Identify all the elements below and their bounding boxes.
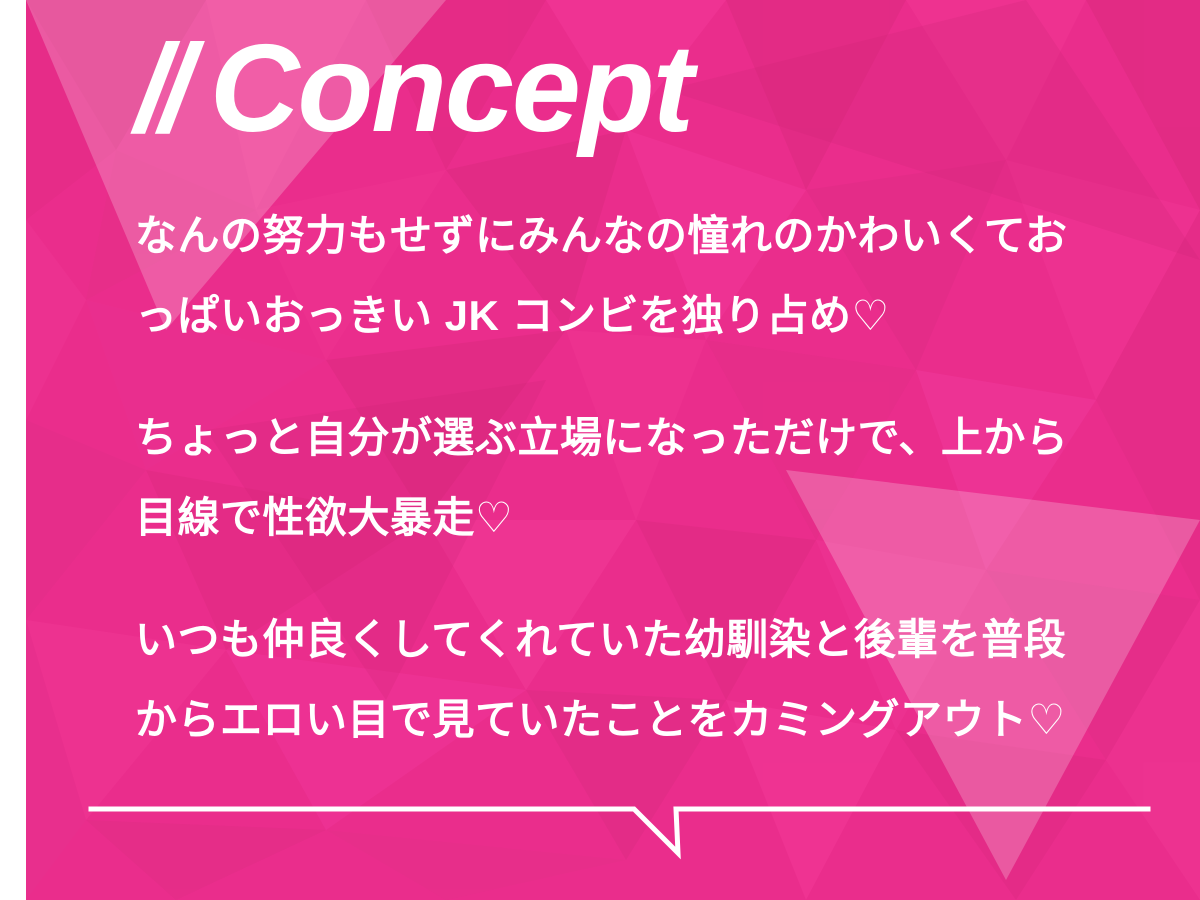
concept-description: なんの努力もせずにみんなの憧れのかわいくておっぱいおっきい JK コンビを独り占…: [135, 196, 1095, 760]
concept-paragraph-2: ちょっと自分が選ぶ立場になっただけで、上から目線で性欲大暴走♡: [135, 398, 1095, 558]
title-text: Concept: [210, 20, 692, 158]
pink-panel: //Concept なんの努力もせずにみんなの憧れのかわいくておっぱいおっきい …: [26, 0, 1200, 900]
concept-paragraph-3: いつも仲良くしてくれていた幼馴染と後輩を普段からエロい目で見ていたことをカミング…: [135, 600, 1095, 760]
banner-content: //Concept なんの努力もせずにみんなの憧れのかわいくておっぱいおっきい …: [26, 0, 1200, 900]
page-title: //Concept: [135, 27, 692, 151]
title-slash-marker: //: [135, 20, 184, 158]
concept-banner: //Concept なんの努力もせずにみんなの憧れのかわいくておっぱいおっきい …: [0, 0, 1200, 900]
concept-paragraph-1: なんの努力もせずにみんなの憧れのかわいくておっぱいおっきい JK コンビを独り占…: [135, 196, 1095, 356]
